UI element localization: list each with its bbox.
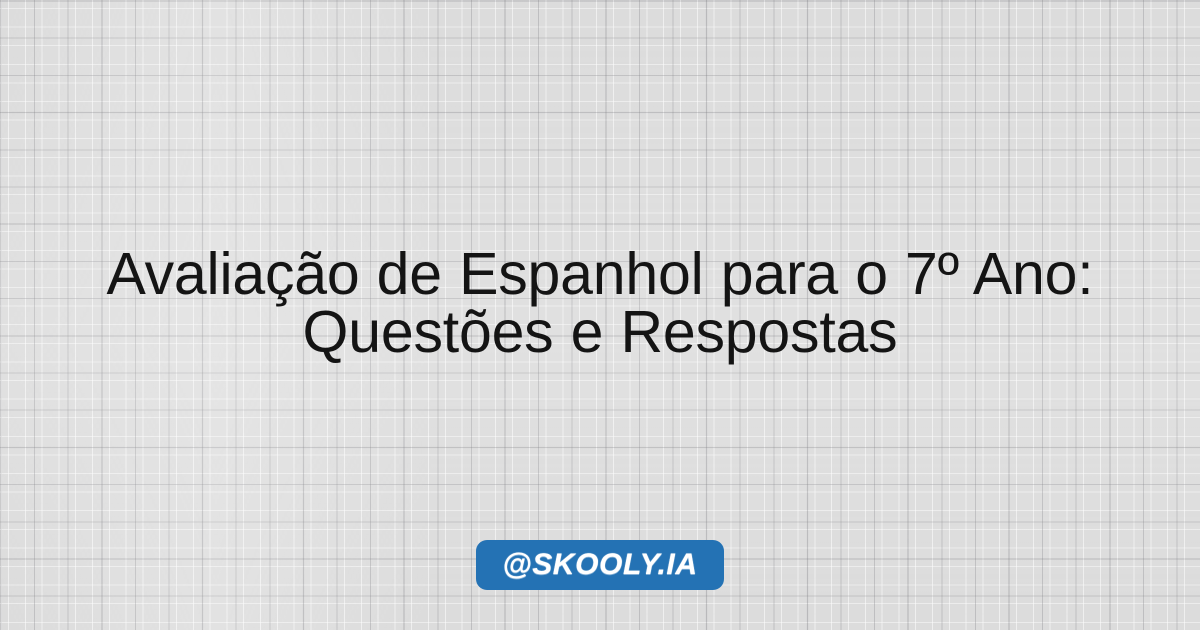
page-title: Avaliação de Espanhol para o 7º Ano: Que…	[24, 245, 1176, 361]
share-card: Avaliação de Espanhol para o 7º Ano: Que…	[0, 0, 1200, 630]
handle-badge-label: @SKOOLY.IA	[502, 548, 697, 582]
handle-badge[interactable]: @SKOOLY.IA	[476, 540, 723, 590]
handle-badge-container: @SKOOLY.IA	[0, 540, 1200, 590]
page-title-container: Avaliação de Espanhol para o 7º Ano: Que…	[0, 245, 1200, 361]
